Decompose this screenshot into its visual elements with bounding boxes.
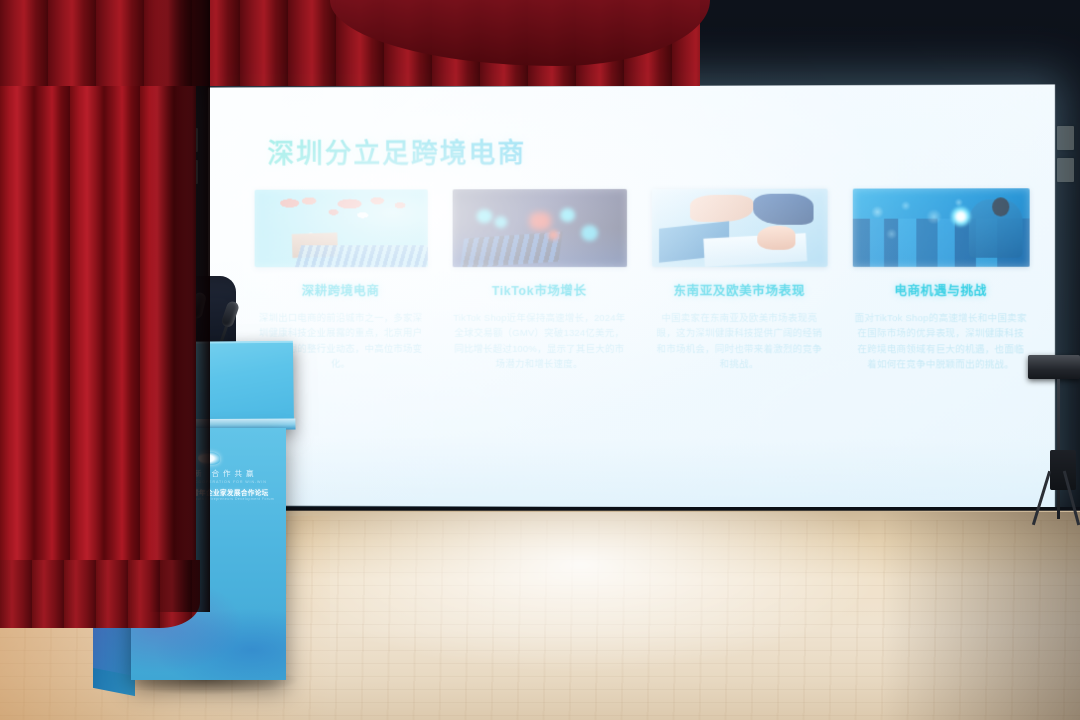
slide-card-4: 电商机遇与挑战 面对TikTok Shop的高速增长和中国卖家在国际市场的优异表…: [840, 188, 1042, 460]
projection-screen: 深圳分立足跨境电商 深耕跨境电商 深圳出口电商的前沿城市之一，多家深圳健康科技企…: [208, 84, 1055, 508]
conference-stage-scene: 深圳分立足跨境电商 深耕跨境电商 深圳出口电商的前沿城市之一，多家深圳健康科技企…: [0, 0, 1080, 720]
card-heading-3: 东南亚及欧美市场表现: [648, 280, 831, 299]
neon-keyboard-photo: [452, 189, 626, 267]
card-body-4: 面对TikTok Shop的高速增长和中国卖家在国际市场的优异表现，深圳健康科技…: [849, 311, 1033, 373]
world-map-logistics-photo: [254, 189, 427, 267]
card-body-3: 中国卖家在东南亚及欧美市场表现亮眼，这为深圳健康科技提供广阔的经销和市场机会，同…: [648, 311, 831, 373]
card-body-2: TikTok Shop近年保持高速增长，2024年全球交易额（GMV）突破132…: [449, 311, 630, 373]
wall-plaque-right-upper: [1057, 126, 1074, 150]
loudspeaker-pole: [1057, 379, 1060, 519]
slide-card-3: 东南亚及欧美市场表现 中国卖家在东南亚及欧美市场表现亮眼，这为深圳健康科技提供广…: [639, 189, 840, 460]
floor-shadow-right: [880, 512, 1080, 720]
loudspeaker-cabinet: [1028, 355, 1080, 379]
card-heading-4: 电商机遇与挑战: [849, 280, 1033, 299]
slide-card-2: TikTok市场增长 TikTok Shop近年保持高速增长，2024年全球交易…: [440, 189, 639, 459]
wall-plaque-right-lower: [1057, 158, 1074, 182]
office-desk-meeting-photo: [652, 189, 828, 267]
card-heading-2: TikTok市场增长: [449, 280, 630, 299]
loudspeaker-lower-unit: [1050, 450, 1076, 490]
slide-card-row: 深耕跨境电商 深圳出口电商的前沿城市之一，多家深圳健康科技企业展露的重点，北京用…: [242, 188, 1042, 460]
slide-title: 深圳分立足跨境电商: [267, 131, 526, 171]
card-heading-1: 深耕跨境电商: [251, 280, 431, 299]
curtain-edge-shadow: [150, 0, 210, 612]
digital-city-blue-photo: [852, 188, 1029, 267]
